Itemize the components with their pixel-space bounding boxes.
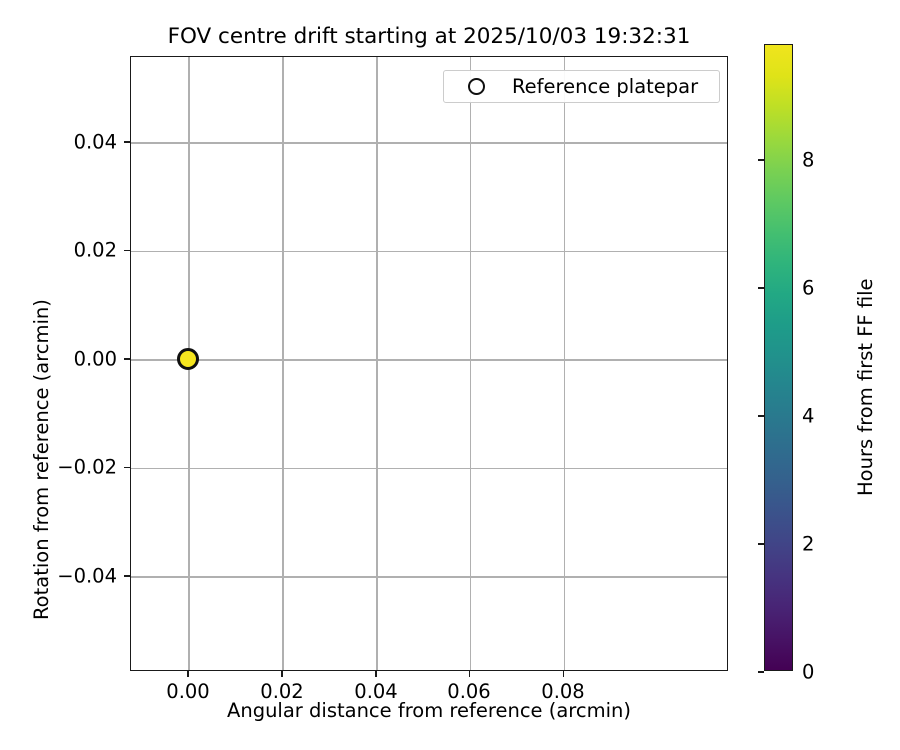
ytick-mark-0 [124,141,130,143]
colorbar-tick-mark-0 [758,671,764,673]
colorbar-label: Hours from first FF file [854,278,877,496]
x-axis-label: Angular distance from reference (arcmin) [130,699,728,722]
figure-canvas: FOV centre drift starting at 2025/10/03 … [0,0,900,750]
colorbar-tick-mark-1 [758,543,764,545]
colorbar-tick-label-0: 0 [802,661,814,684]
ytick-mark-1 [124,250,130,252]
gridline-x-2 [376,57,378,670]
gridline-x-1 [282,57,284,670]
legend-circle-icon [468,78,485,95]
data-point-marker[interactable] [177,348,199,370]
ytick-label-0: 0.04 [49,131,117,154]
colorbar-tick-mark-4 [758,159,764,161]
colorbar-gradient [764,44,793,671]
ytick-mark-4 [124,575,130,577]
page-title: FOV centre drift starting at 2025/10/03 … [130,24,728,49]
xtick-mark-1 [281,671,283,677]
legend-item-label: Reference platepar [512,75,698,98]
colorbar-tick-mark-2 [758,415,764,417]
gridline-y-4 [131,576,727,578]
xtick-mark-3 [469,671,471,677]
xtick-mark-4 [563,671,565,677]
gridline-x-4 [564,57,566,670]
gridline-y-1 [131,251,727,253]
colorbar-tick-label-3: 6 [802,277,814,300]
colorbar [764,44,793,671]
colorbar-tick-label-1: 2 [802,533,814,556]
xtick-mark-0 [187,671,189,677]
gridline-x-3 [470,57,472,670]
ytick-mark-2 [124,358,130,360]
xtick-mark-2 [375,671,377,677]
legend: Reference platepar [443,70,720,103]
gridline-y-3 [131,468,727,470]
ytick-mark-3 [124,467,130,469]
colorbar-tick-label-2: 4 [802,405,814,428]
y-axis-label: Rotation from reference (arcmin) [30,299,53,620]
ytick-label-1: 0.02 [49,239,117,262]
colorbar-tick-label-4: 8 [802,149,814,172]
gridline-y-0 [131,142,727,144]
ytick-label-2: 0.00 [49,348,117,371]
colorbar-tick-mark-3 [758,287,764,289]
gridline-y-2 [131,359,727,361]
plot-area [130,56,728,671]
